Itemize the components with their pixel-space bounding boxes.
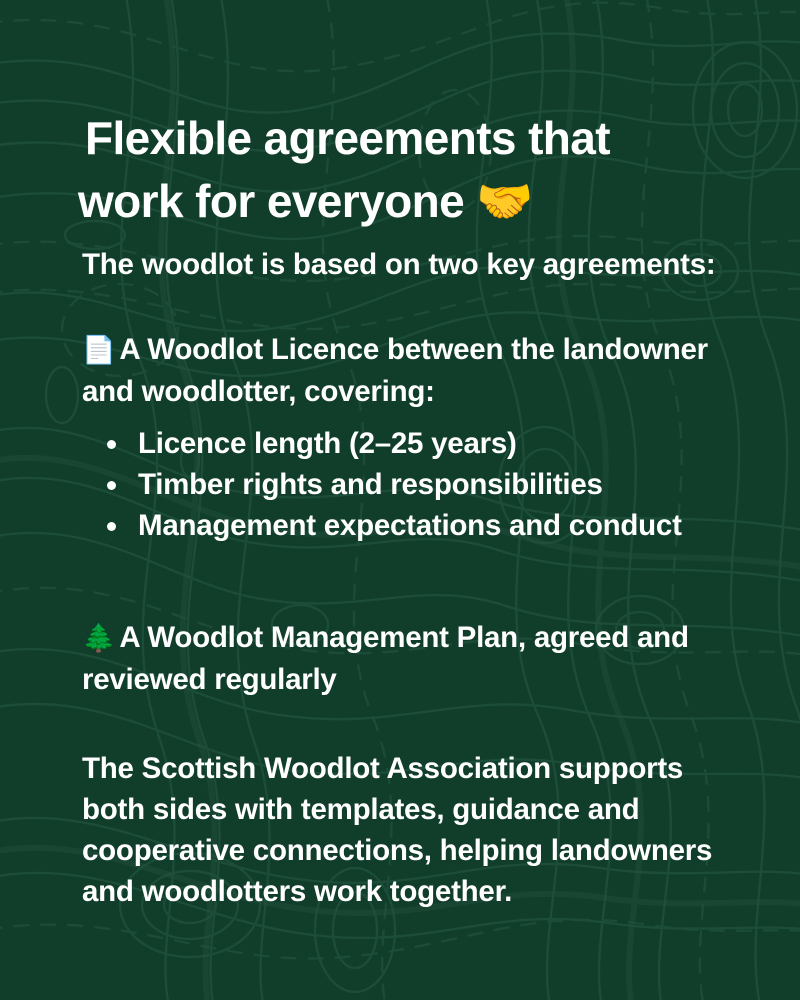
bullet-dot-icon <box>107 522 116 531</box>
page-facing-up-emoji: 📄 <box>82 335 115 366</box>
list-item-label: Licence length (2–25 years) <box>138 427 517 460</box>
bullet-dot-icon <box>107 481 116 490</box>
licence-paragraph: 📄A Woodlot Licence between the landowner… <box>82 329 734 412</box>
list-item-label: Management expectations and conduct <box>138 509 682 542</box>
evergreen-tree-emoji: 🌲 <box>82 623 115 654</box>
closing-paragraph: The Scottish Woodlot Association support… <box>82 748 734 912</box>
intro-text: The woodlot is based on two key agreemen… <box>82 244 734 285</box>
handshake-emoji: 🤝 <box>476 174 533 228</box>
poster-slide: Flexible agreements that work for everyo… <box>0 0 800 1000</box>
page-title: Flexible agreements that work for everyo… <box>78 107 738 233</box>
management-plan-text: A Woodlot Management Plan, agreed and re… <box>82 621 689 696</box>
headline-line-2: work for everyone <box>78 175 464 227</box>
licence-bullet-list: Licence length (2–25 years) Timber right… <box>82 423 734 546</box>
poster-content: Flexible agreements that work for everyo… <box>0 0 800 1000</box>
licence-text: A Woodlot Licence between the landowner … <box>82 333 708 408</box>
bullet-dot-icon <box>107 440 116 449</box>
headline-line-1: Flexible agreements that <box>78 107 738 170</box>
management-plan-paragraph: 🌲A Woodlot Management Plan, agreed and r… <box>82 617 734 700</box>
list-item: Licence length (2–25 years) <box>82 423 734 464</box>
list-item: Timber rights and responsibilities <box>82 464 734 505</box>
list-item: Management expectations and conduct <box>82 505 734 546</box>
list-item-label: Timber rights and responsibilities <box>138 468 603 501</box>
